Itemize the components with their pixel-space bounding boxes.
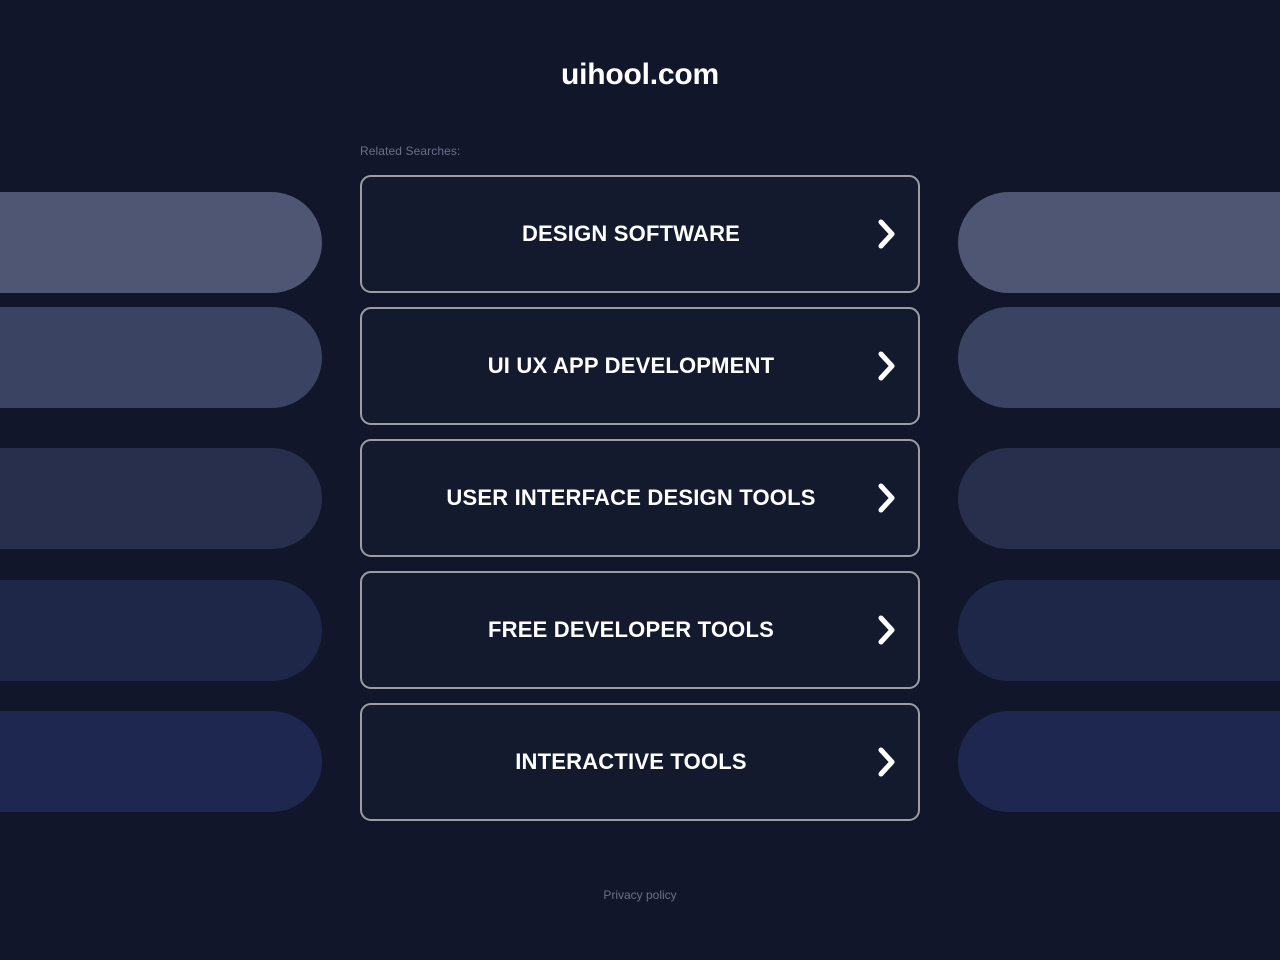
related-searches-list: DESIGN SOFTWAREUI UX APP DEVELOPMENTUSER…	[360, 175, 920, 821]
related-search-card-2[interactable]: UI UX APP DEVELOPMENT	[360, 307, 920, 425]
related-search-label: USER INTERFACE DESIGN TOOLS	[362, 485, 856, 510]
decorative-pill-right-4	[958, 580, 1280, 681]
page-root: uihool.com Related Searches: DESIGN SOFT…	[0, 0, 1280, 960]
decorative-pill-left-2	[0, 307, 322, 408]
decorative-pill-right-3	[958, 448, 1280, 549]
decorative-pill-right-2	[958, 307, 1280, 408]
related-search-card-4[interactable]: FREE DEVELOPER TOOLS	[360, 571, 920, 689]
decorative-pill-left-4	[0, 580, 322, 681]
decorative-pill-left-1	[0, 192, 322, 293]
related-search-label: FREE DEVELOPER TOOLS	[362, 617, 856, 642]
related-searches-label: Related Searches:	[360, 144, 460, 158]
related-search-label: DESIGN SOFTWARE	[362, 221, 856, 246]
decorative-pill-left-5	[0, 711, 322, 812]
chevron-right-icon	[856, 219, 918, 249]
page-title: uihool.com	[0, 58, 1280, 92]
chevron-right-icon	[856, 483, 918, 513]
chevron-right-icon	[856, 615, 918, 645]
related-search-label: INTERACTIVE TOOLS	[362, 749, 856, 774]
chevron-right-icon	[856, 351, 918, 381]
related-search-label: UI UX APP DEVELOPMENT	[362, 353, 856, 378]
decorative-pill-right-5	[958, 711, 1280, 812]
footer: Privacy policy	[0, 886, 1280, 904]
chevron-right-icon	[856, 747, 918, 777]
decorative-pill-right-1	[958, 192, 1280, 293]
related-search-card-3[interactable]: USER INTERFACE DESIGN TOOLS	[360, 439, 920, 557]
related-search-card-1[interactable]: DESIGN SOFTWARE	[360, 175, 920, 293]
related-search-card-5[interactable]: INTERACTIVE TOOLS	[360, 703, 920, 821]
privacy-policy-link[interactable]: Privacy policy	[603, 888, 676, 902]
decorative-pill-left-3	[0, 448, 322, 549]
